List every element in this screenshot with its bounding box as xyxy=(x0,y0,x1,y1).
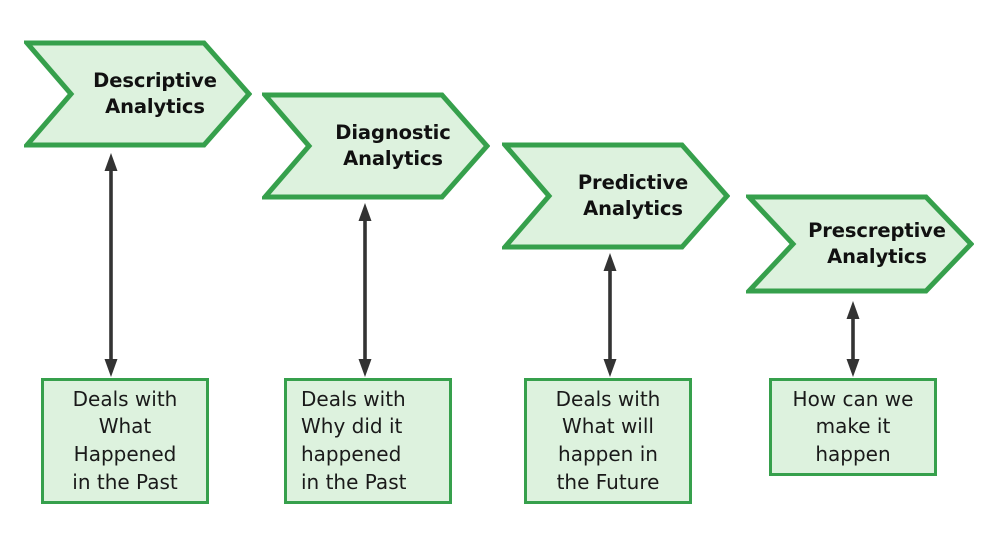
description-box-descriptive[interactable]: Deals with What Happened in the Past xyxy=(41,378,209,504)
connector-arrow-prescreptive xyxy=(838,300,868,378)
description-text-descriptive: Deals with What Happened in the Past xyxy=(44,386,206,496)
connector-arrow-diagnostic xyxy=(350,202,380,378)
double-arrow-icon xyxy=(96,152,126,378)
connector-arrow-descriptive xyxy=(96,152,126,378)
stage-label-descriptive: Descriptive Analytics xyxy=(59,68,217,121)
analytics-maturity-diagram: Descriptive Analytics Deals with What Ha… xyxy=(0,0,1000,550)
stage-label-prescreptive: Prescreptive Analytics xyxy=(774,218,946,271)
stage-chevron-descriptive[interactable]: Descriptive Analytics xyxy=(24,40,252,148)
description-text-prescreptive: How can we make it happen xyxy=(772,386,934,469)
description-text-predictive: Deals with What will happen in the Futur… xyxy=(527,386,689,496)
connector-arrow-predictive xyxy=(595,252,625,378)
description-text-diagnostic: Deals with Why did it happened in the Pa… xyxy=(287,386,449,496)
stage-chevron-diagnostic[interactable]: Diagnostic Analytics xyxy=(262,92,490,200)
double-arrow-icon xyxy=(350,202,380,378)
stage-label-predictive: Predictive Analytics xyxy=(544,170,688,223)
stage-chevron-prescreptive[interactable]: Prescreptive Analytics xyxy=(746,194,974,294)
description-box-predictive[interactable]: Deals with What will happen in the Futur… xyxy=(524,378,692,504)
double-arrow-icon xyxy=(838,300,868,378)
stage-label-diagnostic: Diagnostic Analytics xyxy=(301,120,450,173)
stage-chevron-predictive[interactable]: Predictive Analytics xyxy=(502,142,730,250)
description-box-diagnostic[interactable]: Deals with Why did it happened in the Pa… xyxy=(284,378,452,504)
double-arrow-icon xyxy=(595,252,625,378)
description-box-prescreptive[interactable]: How can we make it happen xyxy=(769,378,937,476)
